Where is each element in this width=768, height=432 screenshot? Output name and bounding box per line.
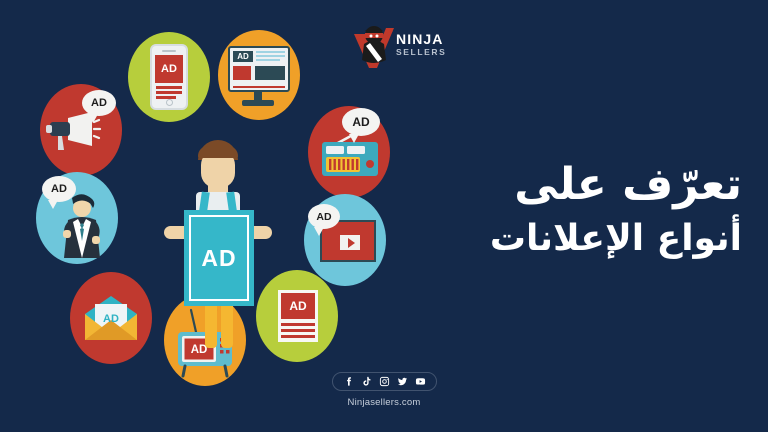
- ad-channel-desktop[interactable]: AD: [218, 30, 300, 120]
- ad-speech-bubble: AD: [342, 108, 380, 136]
- page-title: تعرّف على أنواع الإعلانات: [402, 158, 742, 262]
- ad-label: AD: [51, 183, 67, 195]
- headline-line-1: تعرّف على: [402, 158, 742, 212]
- ad-channel-wordofmouth[interactable]: AD: [36, 172, 118, 264]
- headline-line-2: أنواع الإعلانات: [402, 216, 742, 263]
- ad-speech-bubble: AD: [82, 90, 116, 116]
- monitor-base: [242, 100, 274, 106]
- ad-label: AD: [352, 115, 369, 129]
- businessman-icon: [54, 192, 110, 258]
- man-with-sandwich-board[interactable]: AD: [158, 140, 278, 350]
- ad-label: AD: [237, 52, 249, 61]
- ad-label: AD: [161, 63, 177, 75]
- board-ad-label: AD: [201, 245, 236, 272]
- hair-front: [198, 146, 238, 158]
- desktop-monitor-icon: AD: [228, 46, 290, 92]
- ad-label: AD: [91, 97, 107, 109]
- ad-channel-mobile[interactable]: AD: [128, 32, 210, 122]
- ad-channel-megaphone[interactable]: AD: [40, 84, 122, 176]
- newspaper-icon: AD: [278, 290, 318, 342]
- ad-label: AD: [316, 211, 331, 223]
- mobile-phone-icon: AD: [150, 44, 188, 110]
- ad-channel-email[interactable]: AD: [70, 272, 152, 364]
- ad-speech-bubble: AD: [42, 176, 76, 202]
- envelope-icon: AD: [82, 294, 140, 344]
- poster-canvas: NINJA SELLERS تعرّف على أنواع الإعلانات: [0, 0, 768, 432]
- ad-label: AD: [289, 299, 306, 313]
- sandwich-board[interactable]: AD: [184, 210, 254, 306]
- ad-types-illustration: AD AD: [18, 22, 418, 412]
- svg-text:AD: AD: [103, 313, 119, 325]
- ad-channel-radio[interactable]: AD: [308, 106, 390, 198]
- play-icon: [348, 238, 355, 248]
- ad-speech-bubble: AD: [308, 204, 340, 229]
